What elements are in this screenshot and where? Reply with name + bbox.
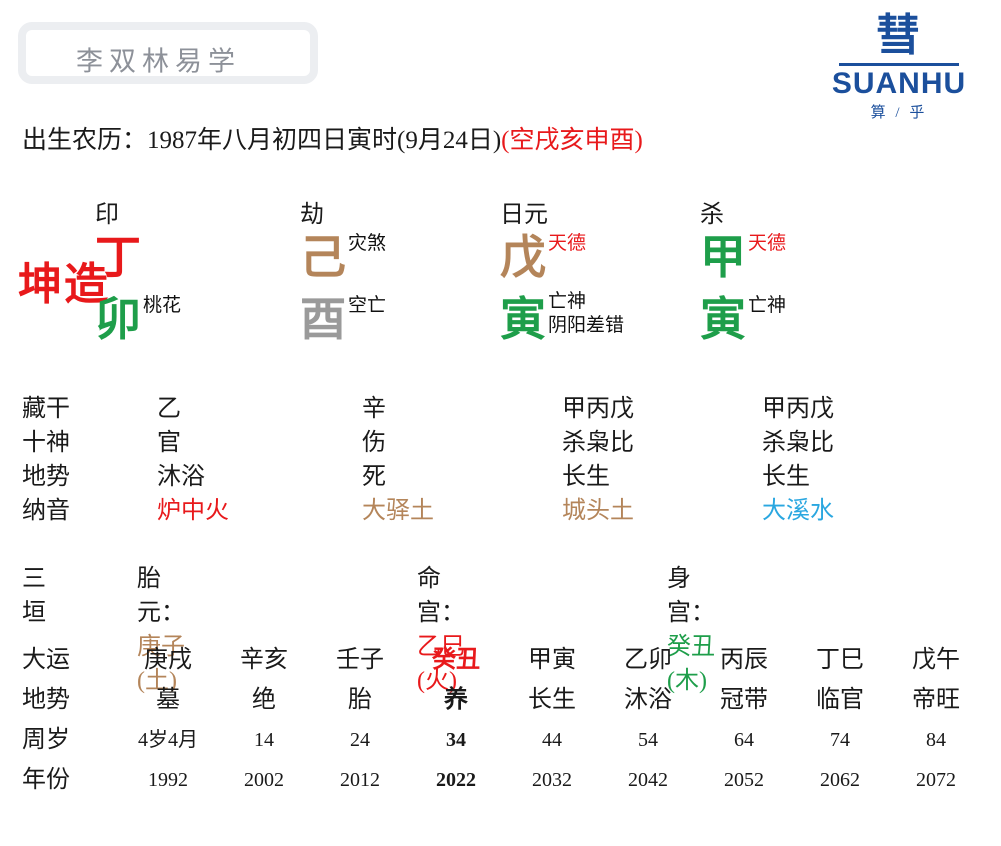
luck-ganzhi: 癸丑: [410, 640, 502, 680]
luck-ganzhi: 戊午: [890, 640, 982, 680]
luck-year: 2072: [890, 760, 982, 800]
luck-row-ganzhi: 大运 庚戌辛亥壬子癸丑甲寅乙卯丙辰丁巳戊午: [22, 640, 982, 680]
shensha-tag: 天德: [548, 232, 586, 256]
row-cell: 城头土: [562, 494, 634, 528]
detail-table: 藏干 乙 辛 甲丙戊 甲丙戊 十神 官 伤 杀枭比 杀枭比 地势 沐浴 死 长生…: [22, 392, 982, 528]
pillar-stem-row: 甲 天德: [700, 230, 920, 292]
minggong-label: 命宫：: [417, 566, 465, 626]
pillar-year: 印 丁 卯 桃花: [95, 200, 315, 354]
shensha-tag: 灾煞: [348, 232, 386, 256]
luck-year: 2032: [506, 760, 598, 800]
luck-age: 4岁4月: [122, 720, 214, 760]
four-pillars: 印 丁 卯 桃花 劫 己 灾煞 酉 空亡 日元 戊 天德 寅 亡神阴阳差错: [0, 200, 1001, 385]
row-cell: 官: [157, 426, 181, 460]
luck-ganzhi: 辛亥: [218, 640, 310, 680]
row-cell: 长生: [562, 460, 610, 494]
luck-ganzhi: 庚戌: [122, 640, 214, 680]
luck-age: 44: [506, 720, 598, 760]
row-cell: 长生: [762, 460, 810, 494]
shensha-tag: 阴阳差错: [548, 314, 624, 338]
row-cell: 杀枭比: [762, 426, 834, 460]
pillar-stem: 己: [300, 232, 346, 283]
luck-age: 34: [410, 720, 502, 760]
luck-row-age: 周岁 4岁4月1424344454647484: [22, 720, 982, 760]
pillar-stem-row: 丁: [95, 230, 315, 292]
luck-ganzhi: 丙辰: [698, 640, 790, 680]
row-cell: 伤: [362, 426, 386, 460]
pillar-branch-shensha: 亡神: [748, 294, 786, 318]
pillar-stem-shensha: 天德: [748, 232, 786, 256]
logo-mark: 彗: [809, 14, 989, 58]
luck-dishi: 胎: [314, 680, 406, 720]
pillar-stem-row: 戊 天德: [500, 230, 720, 292]
luck-dishi: 长生: [506, 680, 598, 720]
birth-line: 出生农历：1987年八月初四日寅时(9月24日)(空戌亥申酉): [22, 120, 643, 156]
brand-logo: 彗 SUANHU 算 / 乎: [809, 14, 989, 122]
luck-age: 64: [698, 720, 790, 760]
sanyuan-label: 三垣: [22, 562, 46, 630]
pillar-branch: 寅: [500, 294, 546, 345]
pillar-branch-shensha: 桃花: [143, 294, 181, 318]
shensha-tag: 天德: [748, 232, 786, 256]
birth-kongwang: (空戌亥申酉): [501, 127, 643, 154]
luck-year: 2012: [314, 760, 406, 800]
row-cell: 沐浴: [157, 460, 205, 494]
row-label: 藏干: [22, 392, 112, 426]
pillar-branch-row: 卯 桃花: [95, 292, 315, 354]
luck-age: 84: [890, 720, 982, 760]
luck-ganzhi: 丁巳: [794, 640, 886, 680]
pillar-hour: 杀 甲 天德 寅 亡神: [700, 200, 920, 354]
pillar-branch-shensha: 空亡: [348, 294, 386, 318]
shensha-tag: 空亡: [348, 294, 386, 318]
luck-row-year: 年份 199220022012202220322042205220622072: [22, 760, 982, 800]
row-cell: 大驿土: [362, 494, 434, 528]
table-row: 十神 官 伤 杀枭比 杀枭比: [22, 426, 982, 460]
luck-ganzhi: 壬子: [314, 640, 406, 680]
luck-ganzhi: 甲寅: [506, 640, 598, 680]
luck-year: 2022: [410, 760, 502, 800]
shensha-tag: 桃花: [143, 294, 181, 318]
shensha-tag: 亡神: [748, 294, 786, 318]
luck-dishi: 沐浴: [602, 680, 694, 720]
pillar-day: 日元 戊 天德 寅 亡神阴阳差错: [500, 200, 720, 354]
luck-age: 74: [794, 720, 886, 760]
pillar-ten-god: 印: [95, 200, 315, 230]
birth-label: 出生农历：: [22, 127, 147, 154]
table-row: 藏干 乙 辛 甲丙戊 甲丙戊: [22, 392, 982, 426]
row-cell: 甲丙戊: [762, 392, 834, 426]
luck-dishi: 临官: [794, 680, 886, 720]
row-cell: 杀枭比: [562, 426, 634, 460]
pillar-branch-row: 酉 空亡: [300, 292, 520, 354]
luck-year: 1992: [122, 760, 214, 800]
pillar-branch-shensha: 亡神阴阳差错: [548, 290, 624, 338]
row-label: 纳音: [22, 494, 112, 528]
luck-row-label: 年份: [22, 760, 102, 800]
pillar-branch: 卯: [95, 294, 141, 345]
shengong-label: 身宫：: [667, 566, 715, 626]
luck-row-dishi: 地势 墓绝胎养长生沐浴冠带临官帝旺: [22, 680, 982, 720]
logo-name: SUANHU: [809, 69, 989, 99]
row-cell: 炉中火: [157, 494, 229, 528]
luck-year: 2002: [218, 760, 310, 800]
table-row: 地势 沐浴 死 长生 长生: [22, 460, 982, 494]
pillar-branch-row: 寅 亡神阴阳差错: [500, 292, 720, 354]
luck-year: 2052: [698, 760, 790, 800]
pillar-branch: 寅: [700, 294, 746, 345]
row-label: 十神: [22, 426, 112, 460]
pillar-stem-shensha: 灾煞: [348, 232, 386, 256]
pillar-stem-row: 己 灾煞: [300, 230, 520, 292]
watermark: 李双林易学: [18, 22, 328, 94]
luck-cycle-table: 大运 庚戌辛亥壬子癸丑甲寅乙卯丙辰丁巳戊午 地势 墓绝胎养长生沐浴冠带临官帝旺 …: [22, 640, 982, 800]
luck-dishi: 墓: [122, 680, 214, 720]
luck-age: 14: [218, 720, 310, 760]
pillar-branch: 酉: [300, 294, 346, 345]
pillar-ten-god: 杀: [700, 200, 920, 230]
luck-age: 24: [314, 720, 406, 760]
row-cell: 死: [362, 460, 386, 494]
row-cell: 辛: [362, 392, 386, 426]
pillar-ten-god: 日元: [500, 200, 720, 230]
pillar-stem-shensha: 天德: [548, 232, 586, 256]
watermark-text: 李双林易学: [68, 49, 249, 76]
pillar-stem: 戊: [500, 232, 546, 283]
pillar-branch-row: 寅 亡神: [700, 292, 920, 354]
luck-year: 2042: [602, 760, 694, 800]
row-cell: 大溪水: [762, 494, 834, 528]
row-cell: 乙: [157, 392, 181, 426]
taiyuan-label: 胎元：: [137, 566, 185, 626]
shensha-tag: 亡神: [548, 290, 624, 314]
luck-dishi: 养: [410, 680, 502, 720]
luck-dishi: 冠带: [698, 680, 790, 720]
logo-subtitle: 算 / 乎: [809, 101, 989, 122]
luck-dishi: 绝: [218, 680, 310, 720]
pillar-stem: 甲: [700, 232, 746, 283]
pillar-month: 劫 己 灾煞 酉 空亡: [300, 200, 520, 354]
luck-row-label: 大运: [22, 640, 102, 680]
pillar-ten-god: 劫: [300, 200, 520, 230]
table-row: 纳音 炉中火 大驿土 城头土 大溪水: [22, 494, 982, 528]
luck-year: 2062: [794, 760, 886, 800]
luck-dishi: 帝旺: [890, 680, 982, 720]
luck-row-label: 周岁: [22, 720, 102, 760]
luck-ganzhi: 乙卯: [602, 640, 694, 680]
birth-value: 1987年八月初四日寅时(9月24日): [147, 127, 501, 154]
pillar-stem: 丁: [95, 232, 141, 283]
row-label: 地势: [22, 460, 112, 494]
luck-row-label: 地势: [22, 680, 102, 720]
row-cell: 甲丙戊: [562, 392, 634, 426]
logo-divider: [839, 63, 959, 66]
luck-age: 54: [602, 720, 694, 760]
